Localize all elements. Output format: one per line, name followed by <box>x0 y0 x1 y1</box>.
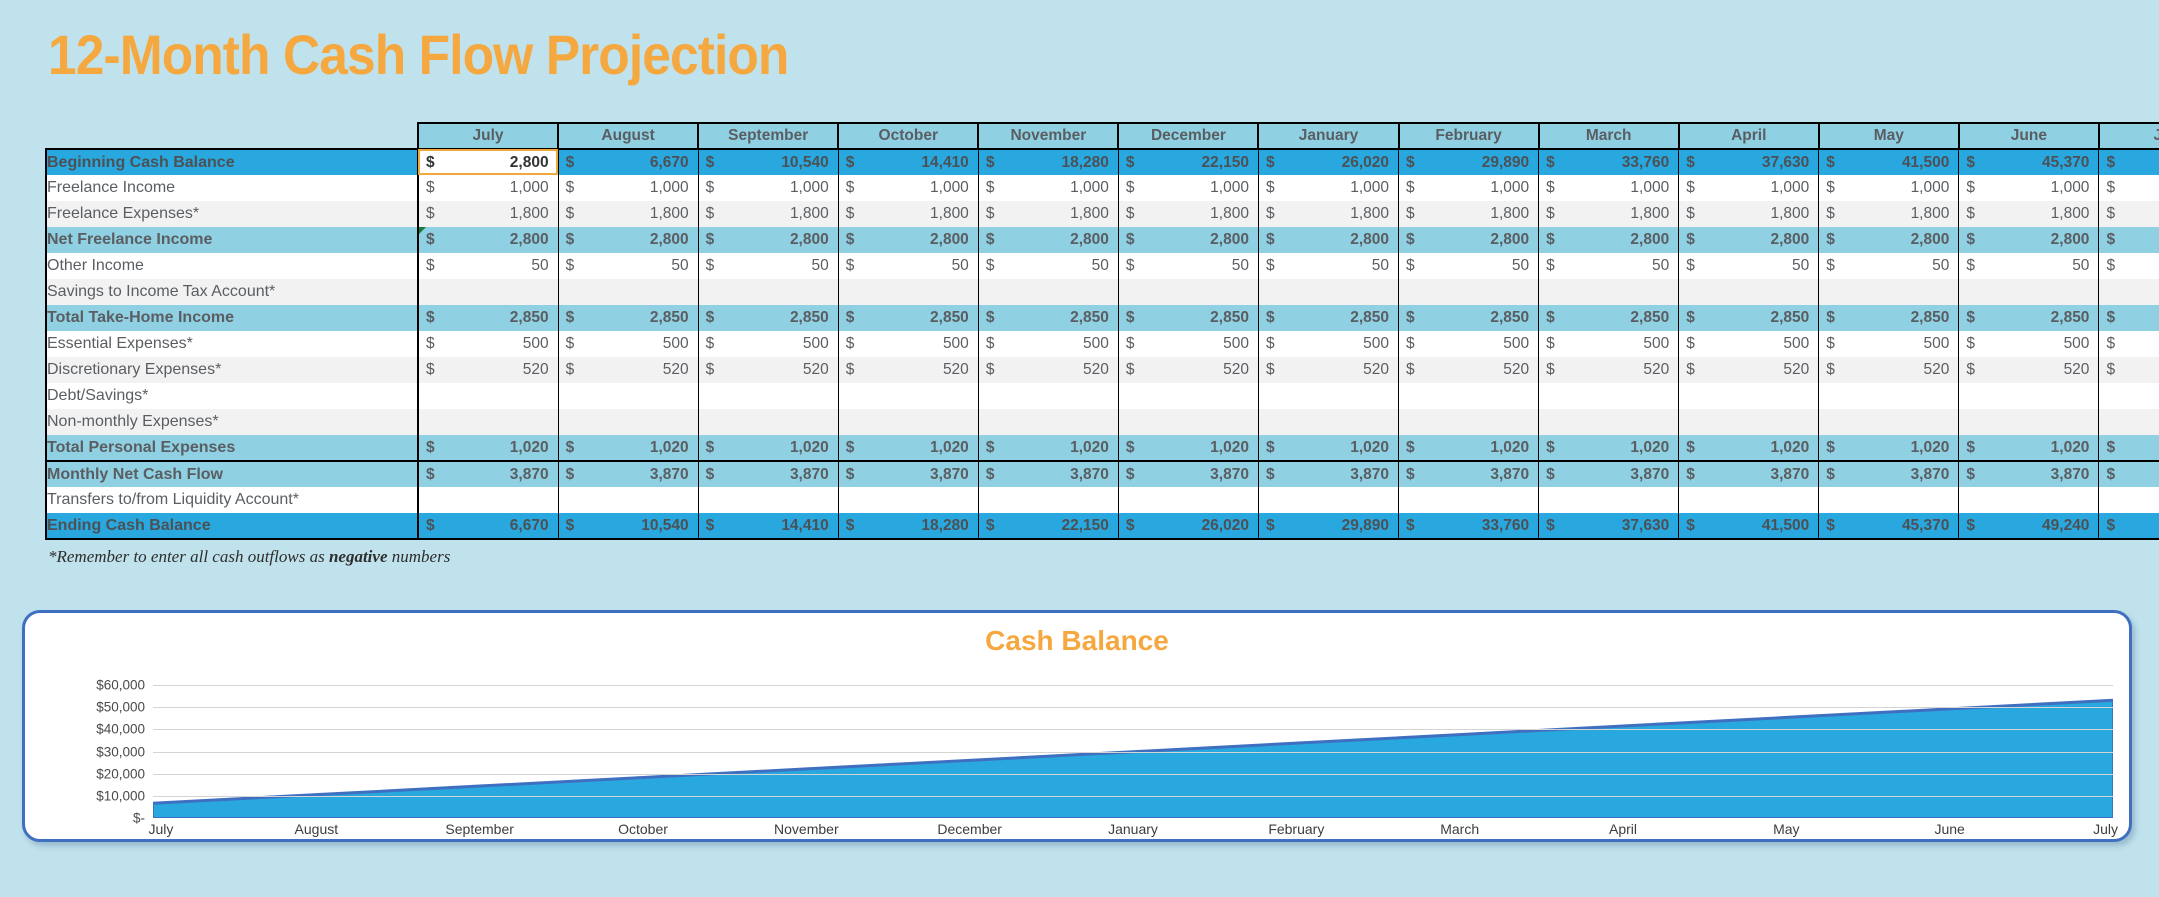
cell-14-5[interactable]: $26,020 <box>1118 513 1258 539</box>
cell-2-9[interactable]: $1,800 <box>1679 201 1819 227</box>
row-label[interactable]: Freelance Expenses* <box>46 201 418 227</box>
cell-7-12[interactable]: $500 <box>2099 331 2159 357</box>
cell-7-10[interactable]: $500 <box>1819 331 1959 357</box>
currency-symbol: $ <box>706 517 715 535</box>
currency-symbol: $ <box>986 361 995 379</box>
column-header-october-3[interactable]: October <box>838 123 978 149</box>
column-header-february-7[interactable]: February <box>1399 123 1539 149</box>
cell-8-11[interactable]: $520 <box>1959 357 2099 383</box>
cell-13-10[interactable] <box>1819 487 1959 513</box>
currency-symbol: $ <box>1966 335 1975 353</box>
cell-8-0[interactable]: $520 <box>418 357 558 383</box>
cell-2-0[interactable]: $1,800 <box>418 201 558 227</box>
cell-7-11[interactable]: $500 <box>1959 331 2099 357</box>
table-row[interactable]: Non-monthly Expenses* <box>46 409 2159 435</box>
cell-11-12[interactable]: $1,020 <box>2099 435 2159 461</box>
cell-5-7[interactable] <box>1399 279 1539 305</box>
cell-5-2[interactable] <box>698 279 838 305</box>
cell-value: 50 <box>1092 257 1109 275</box>
cell-value: 500 <box>943 335 969 353</box>
cell-11-9[interactable]: $1,020 <box>1679 435 1819 461</box>
row-label[interactable]: Monthly Net Cash Flow <box>46 461 418 487</box>
cell-0-6[interactable]: $26,020 <box>1258 149 1398 175</box>
row-label[interactable]: Net Freelance Income <box>46 227 418 253</box>
table-row[interactable]: Beginning Cash Balance$2,800$6,670$10,54… <box>46 149 2159 175</box>
cell-0-8[interactable]: $33,760 <box>1539 149 1679 175</box>
cell-14-1[interactable]: $10,540 <box>558 513 698 539</box>
cell-4-12[interactable]: $50 <box>2099 253 2159 279</box>
cell-6-4[interactable]: $2,850 <box>978 305 1118 331</box>
cell-6-10[interactable]: $2,850 <box>1819 305 1959 331</box>
currency-symbol: $ <box>706 257 715 275</box>
cell-3-12[interactable]: $2,800 <box>2099 227 2159 253</box>
cell-3-1[interactable]: $2,800 <box>558 227 698 253</box>
currency-symbol: $ <box>1966 466 1975 484</box>
cell-14-0[interactable]: $6,670 <box>418 513 558 539</box>
cell-0-2[interactable]: $10,540 <box>698 149 838 175</box>
row-label[interactable]: Discretionary Expenses* <box>46 357 418 383</box>
table-row[interactable]: Discretionary Expenses*$520$520$520$520$… <box>46 357 2159 383</box>
cell-2-11[interactable]: $1,800 <box>1959 201 2099 227</box>
cell-5-4[interactable] <box>978 279 1118 305</box>
cell-12-9[interactable]: $3,870 <box>1679 461 1819 487</box>
cell-6-3[interactable]: $2,850 <box>838 305 978 331</box>
cell-4-5[interactable]: $50 <box>1118 253 1258 279</box>
row-label[interactable]: Transfers to/from Liquidity Account* <box>46 487 418 513</box>
currency-symbol: $ <box>1546 179 1555 197</box>
cell-14-12[interactable]: $53,110 <box>2099 513 2159 539</box>
cell-5-3[interactable] <box>838 279 978 305</box>
cell-3-3[interactable]: $2,800 <box>838 227 978 253</box>
cell-6-9[interactable]: $2,850 <box>1679 305 1819 331</box>
cell-12-0[interactable]: $3,870 <box>418 461 558 487</box>
cell-1-3[interactable]: $1,000 <box>838 175 978 201</box>
row-label[interactable]: Savings to Income Tax Account* <box>46 279 418 305</box>
cell-0-7[interactable]: $29,890 <box>1399 149 1539 175</box>
cell-0-9[interactable]: $37,630 <box>1679 149 1819 175</box>
cell-13-0[interactable] <box>418 487 558 513</box>
cell-1-4[interactable]: $1,000 <box>978 175 1118 201</box>
column-header-december-5[interactable]: December <box>1118 123 1258 149</box>
row-label[interactable]: Beginning Cash Balance <box>46 149 418 175</box>
cell-8-2[interactable]: $520 <box>698 357 838 383</box>
cell-1-1[interactable]: $1,000 <box>558 175 698 201</box>
cell-1-11[interactable]: $1,000 <box>1959 175 2099 201</box>
cell-2-5[interactable]: $1,800 <box>1118 201 1258 227</box>
cell-8-8[interactable]: $520 <box>1539 357 1679 383</box>
cell-4-7[interactable]: $50 <box>1399 253 1539 279</box>
cell-3-10[interactable]: $2,800 <box>1819 227 1959 253</box>
cell-0-4[interactable]: $18,280 <box>978 149 1118 175</box>
cell-8-10[interactable]: $520 <box>1819 357 1959 383</box>
cell-9-0[interactable] <box>418 383 558 409</box>
cell-0-1[interactable]: $6,670 <box>558 149 698 175</box>
cell-11-7[interactable]: $1,020 <box>1399 435 1539 461</box>
cell-6-6[interactable]: $2,850 <box>1258 305 1398 331</box>
cell-9-5[interactable] <box>1118 383 1258 409</box>
cell-13-11[interactable] <box>1959 487 2099 513</box>
cell-3-8[interactable]: $2,800 <box>1539 227 1679 253</box>
cell-5-11[interactable] <box>1959 279 2099 305</box>
table-row[interactable]: Transfers to/from Liquidity Account* <box>46 487 2159 513</box>
cell-7-3[interactable]: $500 <box>838 331 978 357</box>
currency-symbol: $ <box>1826 517 1835 535</box>
cell-2-1[interactable]: $1,800 <box>558 201 698 227</box>
cell-1-7[interactable]: $1,000 <box>1399 175 1539 201</box>
cell-8-5[interactable]: $520 <box>1118 357 1258 383</box>
cell-10-4[interactable] <box>978 409 1118 435</box>
currency-symbol: $ <box>426 517 435 535</box>
currency-symbol: $ <box>1406 517 1415 535</box>
cell-12-12[interactable]: $3,870 <box>2099 461 2159 487</box>
cell-12-8[interactable]: $3,870 <box>1539 461 1679 487</box>
y-axis-tick-label: $10,000 <box>96 788 145 803</box>
column-header-august-1[interactable]: August <box>558 123 698 149</box>
cell-14-4[interactable]: $22,150 <box>978 513 1118 539</box>
cell-value: 1,020 <box>1770 439 1809 457</box>
cell-value: 2,850 <box>930 309 969 327</box>
cell-10-3[interactable] <box>838 409 978 435</box>
cell-1-8[interactable]: $1,000 <box>1539 175 1679 201</box>
cell-13-6[interactable] <box>1258 487 1398 513</box>
cell-value: 37,630 <box>1622 517 1669 535</box>
cell-3-7[interactable]: $2,800 <box>1399 227 1539 253</box>
cell-6-12[interactable]: $2,850 <box>2099 305 2159 331</box>
cell-7-0[interactable]: $500 <box>418 331 558 357</box>
cell-6-1[interactable]: $2,850 <box>558 305 698 331</box>
cell-2-6[interactable]: $1,800 <box>1258 201 1398 227</box>
cell-9-9[interactable] <box>1679 383 1819 409</box>
cell-12-5[interactable]: $3,870 <box>1118 461 1258 487</box>
cell-7-4[interactable]: $500 <box>978 331 1118 357</box>
cell-5-9[interactable] <box>1679 279 1819 305</box>
cell-11-3[interactable]: $1,020 <box>838 435 978 461</box>
cell-value: 1,020 <box>1630 439 1669 457</box>
cell-5-6[interactable] <box>1258 279 1398 305</box>
cell-11-5[interactable]: $1,020 <box>1118 435 1258 461</box>
cell-4-3[interactable]: $50 <box>838 253 978 279</box>
currency-symbol: $ <box>1686 517 1695 535</box>
table-row[interactable]: Ending Cash Balance$6,670$10,540$14,410$… <box>46 513 2159 539</box>
cell-5-10[interactable] <box>1819 279 1959 305</box>
table-row[interactable]: Freelance Expenses*$1,800$1,800$1,800$1,… <box>46 201 2159 227</box>
table-row[interactable]: Debt/Savings* <box>46 383 2159 409</box>
cell-9-8[interactable] <box>1539 383 1679 409</box>
table-row[interactable]: Essential Expenses*$500$500$500$500$500$… <box>46 331 2159 357</box>
cell-8-7[interactable]: $520 <box>1399 357 1539 383</box>
chart-title: Cash Balance <box>25 625 2129 657</box>
cell-8-3[interactable]: $520 <box>838 357 978 383</box>
cell-3-2[interactable]: $2,800 <box>698 227 838 253</box>
cell-value: 3,870 <box>1490 466 1529 484</box>
cell-4-11[interactable]: $50 <box>1959 253 2099 279</box>
cell-5-0[interactable] <box>418 279 558 305</box>
cell-6-11[interactable]: $2,850 <box>1959 305 2099 331</box>
cell-value: 3,870 <box>1070 466 1109 484</box>
cell-11-1[interactable]: $1,020 <box>558 435 698 461</box>
row-label[interactable]: Non-monthly Expenses* <box>46 409 418 435</box>
cell-8-6[interactable]: $520 <box>1258 357 1398 383</box>
table-row[interactable]: Freelance Income$1,000$1,000$1,000$1,000… <box>46 175 2159 201</box>
currency-symbol: $ <box>1686 439 1695 457</box>
currency-symbol: $ <box>426 231 435 249</box>
cell-11-8[interactable]: $1,020 <box>1539 435 1679 461</box>
cell-12-7[interactable]: $3,870 <box>1399 461 1539 487</box>
cell-7-8[interactable]: $500 <box>1539 331 1679 357</box>
column-header-march-8[interactable]: March <box>1539 123 1679 149</box>
column-header-july-0[interactable]: July <box>418 123 558 149</box>
currency-symbol: $ <box>1546 205 1555 223</box>
cell-10-1[interactable] <box>558 409 698 435</box>
cell-value: 520 <box>1223 361 1249 379</box>
cell-3-5[interactable]: $2,800 <box>1118 227 1258 253</box>
cell-12-4[interactable]: $3,870 <box>978 461 1118 487</box>
row-label[interactable]: Debt/Savings* <box>46 383 418 409</box>
currency-symbol: $ <box>1406 231 1415 249</box>
cell-8-4[interactable]: $520 <box>978 357 1118 383</box>
footnote-post: numbers <box>388 547 451 566</box>
cell-9-12[interactable] <box>2099 383 2159 409</box>
cell-5-12[interactable] <box>2099 279 2159 305</box>
cell-4-1[interactable]: $50 <box>558 253 698 279</box>
row-label[interactable]: Total Personal Expenses <box>46 435 418 461</box>
cell-14-3[interactable]: $18,280 <box>838 513 978 539</box>
cell-6-8[interactable]: $2,850 <box>1539 305 1679 331</box>
table-row[interactable]: Savings to Income Tax Account* <box>46 279 2159 305</box>
row-label[interactable]: Total Take-Home Income <box>46 305 418 331</box>
cell-1-2[interactable]: $1,000 <box>698 175 838 201</box>
table-row[interactable]: Total Personal Expenses$1,020$1,020$1,02… <box>46 435 2159 461</box>
y-axis-tick-label: $30,000 <box>96 744 145 759</box>
chart-plot-area <box>153 685 2113 818</box>
table-row[interactable]: Net Freelance Income$2,800$2,800$2,800$2… <box>46 227 2159 253</box>
column-header-november-4[interactable]: November <box>978 123 1118 149</box>
cell-10-10[interactable] <box>1819 409 1959 435</box>
column-header-may-10[interactable]: May <box>1819 123 1959 149</box>
currency-symbol: $ <box>2106 466 2115 484</box>
cell-value: 2,800 <box>1210 231 1249 249</box>
cell-13-1[interactable] <box>558 487 698 513</box>
cell-0-5[interactable]: $22,150 <box>1118 149 1258 175</box>
cell-value: 1,020 <box>1350 439 1389 457</box>
cell-10-9[interactable] <box>1679 409 1819 435</box>
table-row[interactable]: Other Income$50$50$50$50$50$50$50$50$50$… <box>46 253 2159 279</box>
cell-12-1[interactable]: $3,870 <box>558 461 698 487</box>
cell-13-5[interactable] <box>1118 487 1258 513</box>
cell-value: 2,850 <box>1350 309 1389 327</box>
cell-7-6[interactable]: $500 <box>1258 331 1398 357</box>
cell-value: 520 <box>1643 361 1669 379</box>
row-label[interactable]: Other Income <box>46 253 418 279</box>
cell-3-11[interactable]: $2,800 <box>1959 227 2099 253</box>
cell-11-0[interactable]: $1,020 <box>418 435 558 461</box>
cell-10-0[interactable] <box>418 409 558 435</box>
cell-9-7[interactable] <box>1399 383 1539 409</box>
cell-value: 26,020 <box>1202 517 1249 535</box>
cell-13-12[interactable] <box>2099 487 2159 513</box>
cell-0-12[interactable]: $49,240 <box>2099 149 2159 175</box>
cell-4-2[interactable]: $50 <box>698 253 838 279</box>
cell-10-11[interactable] <box>1959 409 2099 435</box>
cell-12-6[interactable]: $3,870 <box>1258 461 1398 487</box>
row-label[interactable]: Freelance Income <box>46 175 418 201</box>
cell-value: 50 <box>1652 257 1669 275</box>
currency-symbol: $ <box>1826 231 1835 249</box>
cell-4-0[interactable]: $50 <box>418 253 558 279</box>
cell-value: 1,000 <box>1630 179 1669 197</box>
cell-8-1[interactable]: $520 <box>558 357 698 383</box>
cell-10-12[interactable] <box>2099 409 2159 435</box>
column-header-april-9[interactable]: April <box>1679 123 1819 149</box>
cell-4-9[interactable]: $50 <box>1679 253 1819 279</box>
cell-14-11[interactable]: $49,240 <box>1959 513 2099 539</box>
cell-6-2[interactable]: $2,850 <box>698 305 838 331</box>
cell-11-6[interactable]: $1,020 <box>1258 435 1398 461</box>
cell-1-5[interactable]: $1,000 <box>1118 175 1258 201</box>
cell-4-8[interactable]: $50 <box>1539 253 1679 279</box>
cell-9-2[interactable] <box>698 383 838 409</box>
row-label[interactable]: Essential Expenses* <box>46 331 418 357</box>
cell-12-11[interactable]: $3,870 <box>1959 461 2099 487</box>
cell-value: 1,020 <box>930 439 969 457</box>
cell-11-11[interactable]: $1,020 <box>1959 435 2099 461</box>
currency-symbol: $ <box>846 231 855 249</box>
cell-value: 1,800 <box>2051 205 2090 223</box>
cell-11-4[interactable]: $1,020 <box>978 435 1118 461</box>
column-header-september-2[interactable]: September <box>698 123 838 149</box>
cell-13-8[interactable] <box>1539 487 1679 513</box>
cell-1-0[interactable]: $1,000 <box>418 175 558 201</box>
cell-9-10[interactable] <box>1819 383 1959 409</box>
cell-9-6[interactable] <box>1258 383 1398 409</box>
cell-2-4[interactable]: $1,800 <box>978 201 1118 227</box>
cell-5-5[interactable] <box>1118 279 1258 305</box>
x-axis-tick-label: October <box>618 821 668 837</box>
currency-symbol: $ <box>1686 309 1695 327</box>
cell-13-7[interactable] <box>1399 487 1539 513</box>
cell-value: 50 <box>1512 257 1529 275</box>
cell-2-10[interactable]: $1,800 <box>1819 201 1959 227</box>
column-header-july-12[interactable]: July <box>2099 123 2159 149</box>
currency-symbol: $ <box>1546 361 1555 379</box>
cell-value: 50 <box>671 257 688 275</box>
cell-5-8[interactable] <box>1539 279 1679 305</box>
cell-14-9[interactable]: $41,500 <box>1679 513 1819 539</box>
cell-13-9[interactable] <box>1679 487 1819 513</box>
cell-3-0[interactable]: $2,800 <box>418 227 558 253</box>
currency-symbol: $ <box>426 257 435 275</box>
cell-14-7[interactable]: $33,760 <box>1399 513 1539 539</box>
cell-13-3[interactable] <box>838 487 978 513</box>
cell-2-12[interactable]: $1,800 <box>2099 201 2159 227</box>
cell-4-10[interactable]: $50 <box>1819 253 1959 279</box>
cell-12-3[interactable]: $3,870 <box>838 461 978 487</box>
cell-6-7[interactable]: $2,850 <box>1399 305 1539 331</box>
cell-11-2[interactable]: $1,020 <box>698 435 838 461</box>
cell-14-6[interactable]: $29,890 <box>1258 513 1398 539</box>
cell-2-8[interactable]: $1,800 <box>1539 201 1679 227</box>
currency-symbol: $ <box>1546 154 1555 172</box>
cell-10-5[interactable] <box>1118 409 1258 435</box>
cell-10-8[interactable] <box>1539 409 1679 435</box>
currency-symbol: $ <box>1686 466 1695 484</box>
column-header-june-11[interactable]: June <box>1959 123 2099 149</box>
cell-14-10[interactable]: $45,370 <box>1819 513 1959 539</box>
table-row[interactable]: Monthly Net Cash Flow$3,870$3,870$3,870$… <box>46 461 2159 487</box>
cell-6-0[interactable]: $2,850 <box>418 305 558 331</box>
y-axis-tick-label: $40,000 <box>96 722 145 737</box>
cell-10-6[interactable] <box>1258 409 1398 435</box>
cell-9-1[interactable] <box>558 383 698 409</box>
cell-value: 520 <box>943 361 969 379</box>
cell-7-2[interactable]: $500 <box>698 331 838 357</box>
cell-1-12[interactable]: $1,000 <box>2099 175 2159 201</box>
currency-symbol: $ <box>1266 205 1275 223</box>
cell-7-7[interactable]: $500 <box>1399 331 1539 357</box>
cell-9-4[interactable] <box>978 383 1118 409</box>
table-row[interactable]: Total Take-Home Income$2,850$2,850$2,850… <box>46 305 2159 331</box>
currency-symbol: $ <box>1966 179 1975 197</box>
cell-2-2[interactable]: $1,800 <box>698 201 838 227</box>
cell-value: 520 <box>1923 361 1949 379</box>
cell-5-1[interactable] <box>558 279 698 305</box>
cell-13-4[interactable] <box>978 487 1118 513</box>
cell-8-12[interactable]: $520 <box>2099 357 2159 383</box>
cell-value: 2,800 <box>510 231 549 249</box>
cell-10-7[interactable] <box>1399 409 1539 435</box>
currency-symbol: $ <box>986 335 995 353</box>
cell-0-11[interactable]: $45,370 <box>1959 149 2099 175</box>
currency-symbol: $ <box>986 205 995 223</box>
cell-12-10[interactable]: $3,870 <box>1819 461 1959 487</box>
cell-12-2[interactable]: $3,870 <box>698 461 838 487</box>
cell-value: 2,800 <box>2051 231 2090 249</box>
cell-4-4[interactable]: $50 <box>978 253 1118 279</box>
cell-3-6[interactable]: $2,800 <box>1258 227 1398 253</box>
cell-4-6[interactable]: $50 <box>1258 253 1398 279</box>
currency-symbol: $ <box>1686 257 1695 275</box>
currency-symbol: $ <box>1406 466 1415 484</box>
cell-3-4[interactable]: $2,800 <box>978 227 1118 253</box>
cell-7-9[interactable]: $500 <box>1679 331 1819 357</box>
cell-14-2[interactable]: $14,410 <box>698 513 838 539</box>
cell-2-7[interactable]: $1,800 <box>1399 201 1539 227</box>
cell-0-3[interactable]: $14,410 <box>838 149 978 175</box>
cell-2-3[interactable]: $1,800 <box>838 201 978 227</box>
cell-3-9[interactable]: $2,800 <box>1679 227 1819 253</box>
currency-symbol: $ <box>566 517 575 535</box>
cell-6-5[interactable]: $2,850 <box>1118 305 1258 331</box>
cell-value: 500 <box>523 335 549 353</box>
column-header-january-6[interactable]: January <box>1258 123 1398 149</box>
cell-1-9[interactable]: $1,000 <box>1679 175 1819 201</box>
cell-8-9[interactable]: $520 <box>1679 357 1819 383</box>
cell-11-10[interactable]: $1,020 <box>1819 435 1959 461</box>
cell-9-3[interactable] <box>838 383 978 409</box>
cell-10-2[interactable] <box>698 409 838 435</box>
cell-9-11[interactable] <box>1959 383 2099 409</box>
currency-symbol: $ <box>1686 205 1695 223</box>
row-label[interactable]: Ending Cash Balance <box>46 513 418 539</box>
cell-0-10[interactable]: $41,500 <box>1819 149 1959 175</box>
cell-1-10[interactable]: $1,000 <box>1819 175 1959 201</box>
cell-7-5[interactable]: $500 <box>1118 331 1258 357</box>
cell-0-0[interactable]: $2,800 <box>418 149 558 175</box>
cell-13-2[interactable] <box>698 487 838 513</box>
cell-7-1[interactable]: $500 <box>558 331 698 357</box>
cell-1-6[interactable]: $1,000 <box>1258 175 1398 201</box>
cell-14-8[interactable]: $37,630 <box>1539 513 1679 539</box>
